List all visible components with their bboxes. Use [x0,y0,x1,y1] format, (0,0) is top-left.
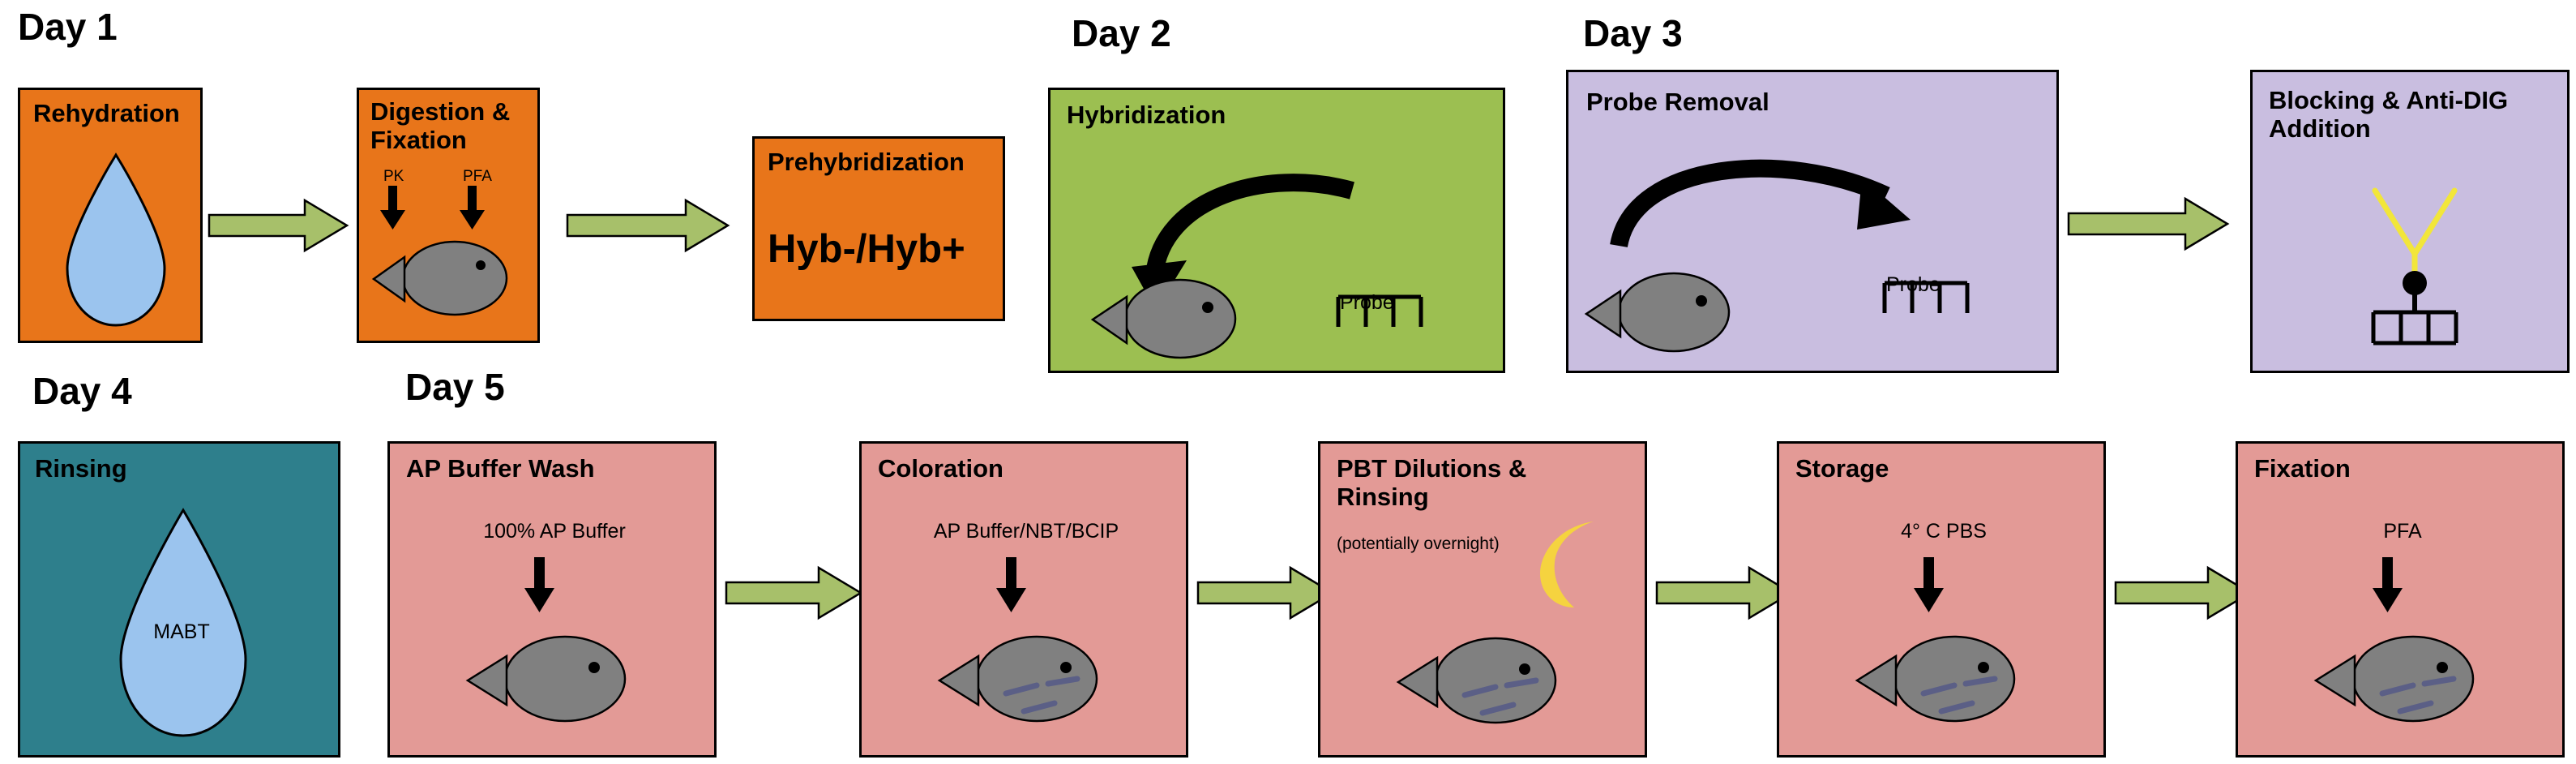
arrow-rehydration-to-digestion [209,200,349,251]
probe-removal-graphic [1568,126,2061,376]
step-storage-title: Storage [1795,455,1889,483]
step-ap-buffer-wash: AP Buffer Wash 100% AP Buffer [387,441,717,758]
step-probe-removal-title: Probe Removal [1586,88,1769,117]
fish-coloration-icon [886,557,1166,752]
fish-fixation-icon [2262,557,2543,752]
step-prehybridization: Prehybridization Hyb-/Hyb+ [752,136,1005,321]
arrow-digestion-to-prehybridization [567,200,730,251]
step-digestion-fixation: Digestion & Fixation PK PFA [357,88,540,343]
step-pbt-dilutions-rinsing: PBT Dilutions & Rinsing (potentially ove… [1318,441,1647,758]
label-ap-buffer-nbt-bcip: AP Buffer/NBT/BCIP [862,520,1191,543]
day-label-5: Day 5 [405,365,505,409]
day-label-4: Day 4 [32,369,132,413]
step-rinsing: Rinsing MABT [18,441,340,758]
step-hybridization: Hybridization Probe [1048,88,1505,373]
step-fixation: Fixation PFA [2236,441,2565,758]
step-storage: Storage 4° C PBS [1777,441,2106,758]
fish-ap-buffer-icon [414,557,695,752]
label-4c-pbs: 4° C PBS [1779,520,2108,543]
step-ap-buffer-wash-title: AP Buffer Wash [406,455,595,483]
droplet-label-mabt: MABT [20,620,343,644]
step-digestion-fixation-title: Digestion & Fixation [370,98,510,154]
label-pfa: PFA [463,168,492,186]
fish-with-two-arrows-icon [359,186,542,340]
step-coloration: Coloration AP Buffer/NBT/BCIP [859,441,1188,758]
label-pk: PK [383,168,404,186]
arrow-coloration-to-pbt [1198,568,1334,618]
label-100-ap-buffer: 100% AP Buffer [390,520,719,543]
step-prehybridization-title: Prehybridization [768,148,965,177]
step-rinsing-title: Rinsing [35,455,127,483]
protocol-diagram: Day 1 Day 2 Day 3 Day 4 Day 5 Rehydratio… [0,0,2576,764]
step-fixation-title: Fixation [2254,455,2351,483]
arrow-pbt-to-storage [1657,568,1793,618]
prehybridization-buffers: Hyb-/Hyb+ [768,226,965,272]
label-pfa-fixation: PFA [2238,520,2567,543]
step-rehydration: Rehydration [18,88,203,343]
label-potentially-overnight: (potentially overnight) [1337,534,1500,554]
fish-pbt-icon [1345,565,1625,752]
step-pbt-dilutions-rinsing-title: PBT Dilutions & Rinsing [1337,455,1526,511]
day-label-2: Day 2 [1072,11,1171,55]
fish-storage-icon [1804,557,2084,752]
day-label-3: Day 3 [1583,11,1683,55]
day-label-1: Day 1 [18,5,118,49]
arrow-storage-to-fixation [2116,568,2252,618]
step-blocking-antidig: Blocking & Anti-DIG Addition [2250,70,2570,373]
step-hybridization-title: Hybridization [1067,101,1226,130]
arrow-probe-removal-to-blocking [2069,199,2229,249]
step-coloration-title: Coloration [878,455,1003,483]
arrow-apbuffer-to-coloration [726,568,862,618]
step-rehydration-title: Rehydration [33,100,180,128]
step-blocking-antidig-title: Blocking & Anti-DIG Addition [2269,87,2508,143]
antibody-icon [2330,184,2509,363]
droplet-icon [59,145,173,332]
step-probe-removal: Probe Removal Probe [1566,70,2059,373]
hybridization-graphic [1051,139,1508,376]
